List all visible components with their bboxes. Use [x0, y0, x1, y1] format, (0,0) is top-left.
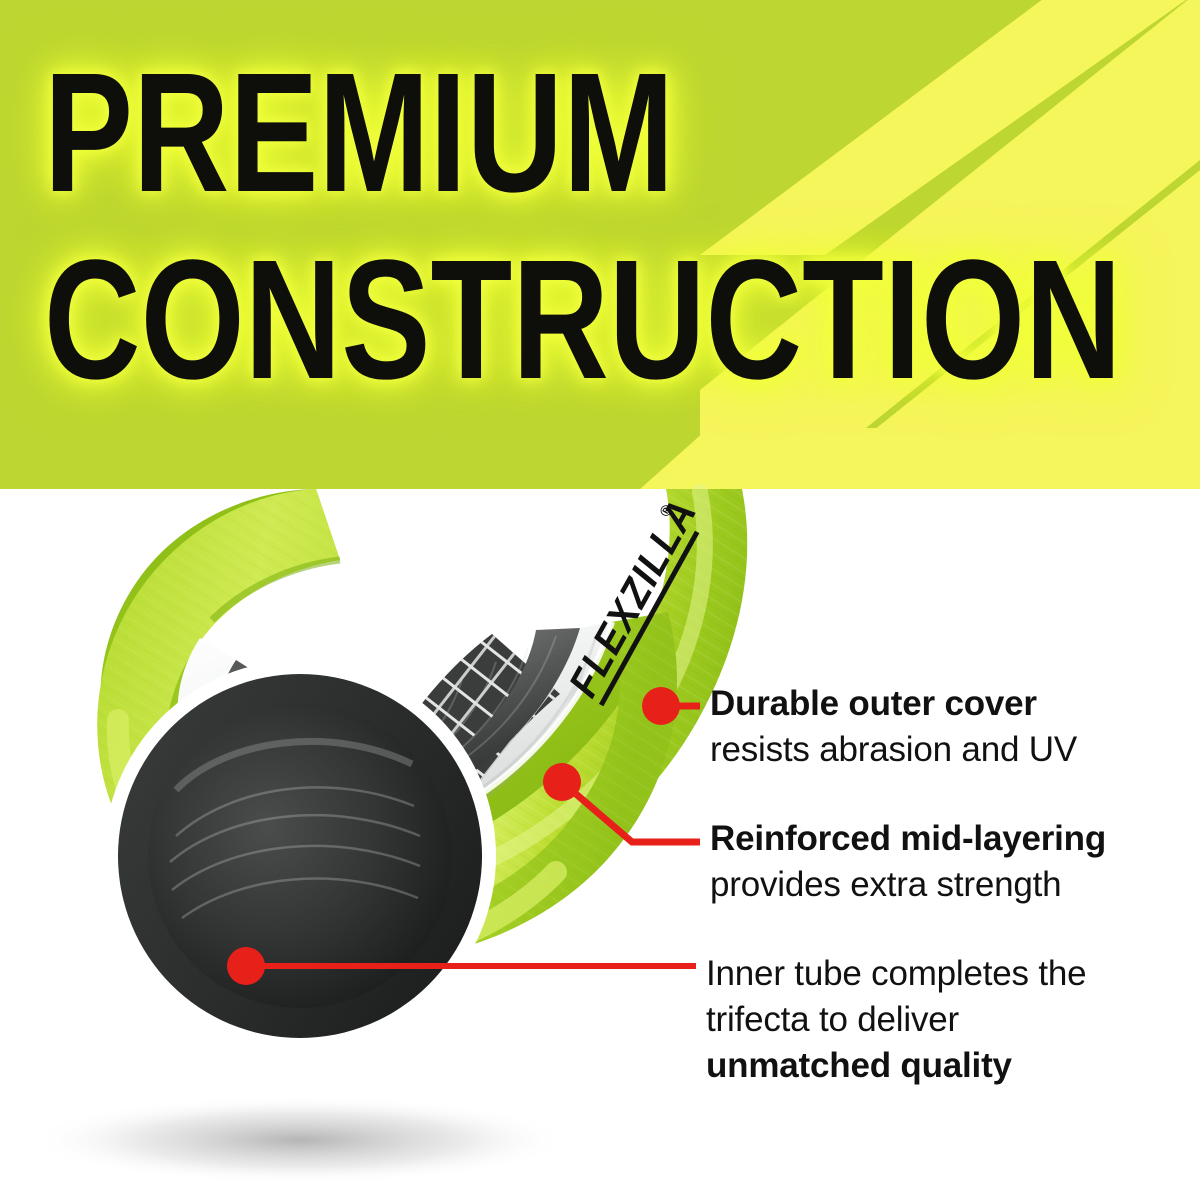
hose-drop-shadow — [30, 1096, 570, 1184]
infographic-page: PREMIUM CONSTRUCTION — [0, 0, 1200, 1200]
callout-3-trailing-bold: unmatched quality — [706, 1046, 1012, 1085]
callout-2-bold: Reinforced mid-layering — [710, 819, 1106, 858]
callout-1-bold: Durable outer cover — [710, 684, 1037, 723]
callout-durable-outer-cover: Durable outer cover resists abrasion and… — [710, 681, 1190, 773]
callout-inner-tube: Inner tube completes the trifecta to del… — [706, 951, 1198, 1089]
callout-1-rest: resists abrasion and UV — [710, 730, 1077, 769]
callout-reinforced-mid-layering: Reinforced mid-layering provides extra s… — [710, 816, 1196, 908]
callout-2-rest: provides extra strength — [710, 865, 1061, 904]
callout-3-rest: Inner tube completes the trifecta to del… — [706, 954, 1086, 1039]
